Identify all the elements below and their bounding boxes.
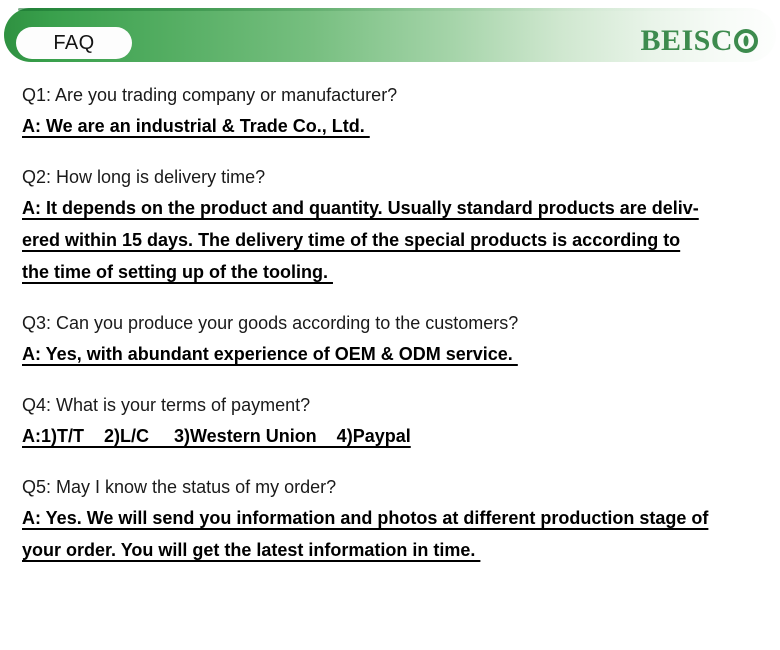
faq-question: Q4: What is your terms of payment? xyxy=(22,390,762,420)
o-ring-logo-icon xyxy=(734,29,758,53)
page-header-bar: FAQ BEISC xyxy=(4,8,776,62)
faq-answer-line: ered within 15 days. The delivery time o… xyxy=(22,224,762,256)
faq-tab-label: FAQ xyxy=(53,33,94,53)
faq-item: Q1: Are you trading company or manufactu… xyxy=(22,80,762,142)
faq-answer: A: It depends on the product and quantit… xyxy=(22,192,762,288)
faq-answer-line: the time of setting up of the tooling. xyxy=(22,256,762,288)
faq-answer: A: We are an industrial & Trade Co., Ltd… xyxy=(22,110,762,142)
faq-question: Q1: Are you trading company or manufactu… xyxy=(22,80,762,110)
faq-answer: A: Yes, with abundant experience of OEM … xyxy=(22,338,762,370)
faq-tab[interactable]: FAQ xyxy=(16,27,132,59)
faq-item: Q2: How long is delivery time? A: It dep… xyxy=(22,162,762,288)
faq-question: Q5: May I know the status of my order? xyxy=(22,472,762,502)
faq-answer: A:1)T/T 2)L/C 3)Western Union 4)Paypal xyxy=(22,420,762,452)
faq-answer-line: A: Yes. We will send you information and… xyxy=(22,502,762,534)
faq-answer: A: Yes. We will send you information and… xyxy=(22,502,762,566)
brand-logo-text: BEISC xyxy=(640,26,733,56)
faq-item: Q4: What is your terms of payment? A:1)T… xyxy=(22,390,762,452)
faq-item: Q5: May I know the status of my order? A… xyxy=(22,472,762,566)
faq-list: Q1: Are you trading company or manufactu… xyxy=(22,80,762,566)
faq-answer-line: your order. You will get the latest info… xyxy=(22,534,762,566)
faq-question: Q3: Can you produce your goods according… xyxy=(22,308,762,338)
faq-question: Q2: How long is delivery time? xyxy=(22,162,762,192)
faq-answer-line: A: Yes, with abundant experience of OEM … xyxy=(22,338,762,370)
faq-item: Q3: Can you produce your goods according… xyxy=(22,308,762,370)
faq-answer-line: A: We are an industrial & Trade Co., Ltd… xyxy=(22,110,762,142)
faq-answer-line: A:1)T/T 2)L/C 3)Western Union 4)Paypal xyxy=(22,420,762,452)
brand-logo: BEISC xyxy=(640,24,758,58)
faq-answer-line: A: It depends on the product and quantit… xyxy=(22,192,762,224)
